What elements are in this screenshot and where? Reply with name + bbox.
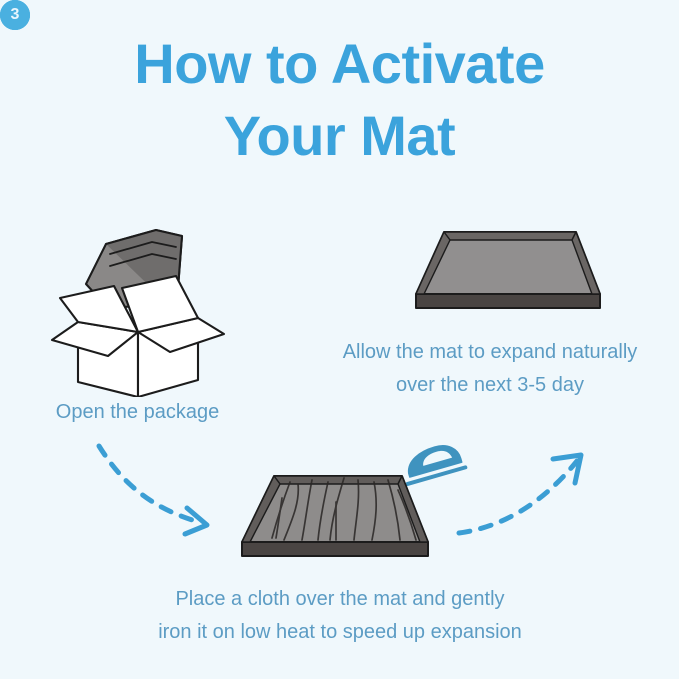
step-1-caption-line-1: Open the package [0, 396, 275, 429]
page-title: How to Activate Your Mat [0, 28, 679, 172]
step-1-illustration [48, 222, 228, 397]
step-3-caption: Allow the mat to expand naturally over t… [300, 336, 679, 402]
dashed-curved-arrow-down-right-icon [95, 440, 225, 540]
step-3-caption-line-2: over the next 3-5 day [300, 369, 679, 402]
step-2-caption-line-2: iron it on low heat to speed up expansio… [90, 616, 590, 649]
step-2-caption-line-1: Place a cloth over the mat and gently [90, 583, 590, 616]
infographic-canvas: How to Activate Your Mat 1 Open [0, 0, 679, 679]
dashed-curved-arrow-up-right-icon [455, 445, 600, 545]
title-line-1: How to Activate [0, 28, 679, 100]
step-3-caption-line-1: Allow the mat to expand naturally [300, 336, 679, 369]
step-2-illustration [232, 468, 437, 568]
step-2-caption: Place a cloth over the mat and gently ir… [90, 583, 590, 649]
title-line-2: Your Mat [0, 100, 679, 172]
step-badge-3: 3 [0, 0, 30, 30]
step-3-illustration [408, 226, 608, 318]
step-1-caption: Open the package [0, 396, 275, 429]
